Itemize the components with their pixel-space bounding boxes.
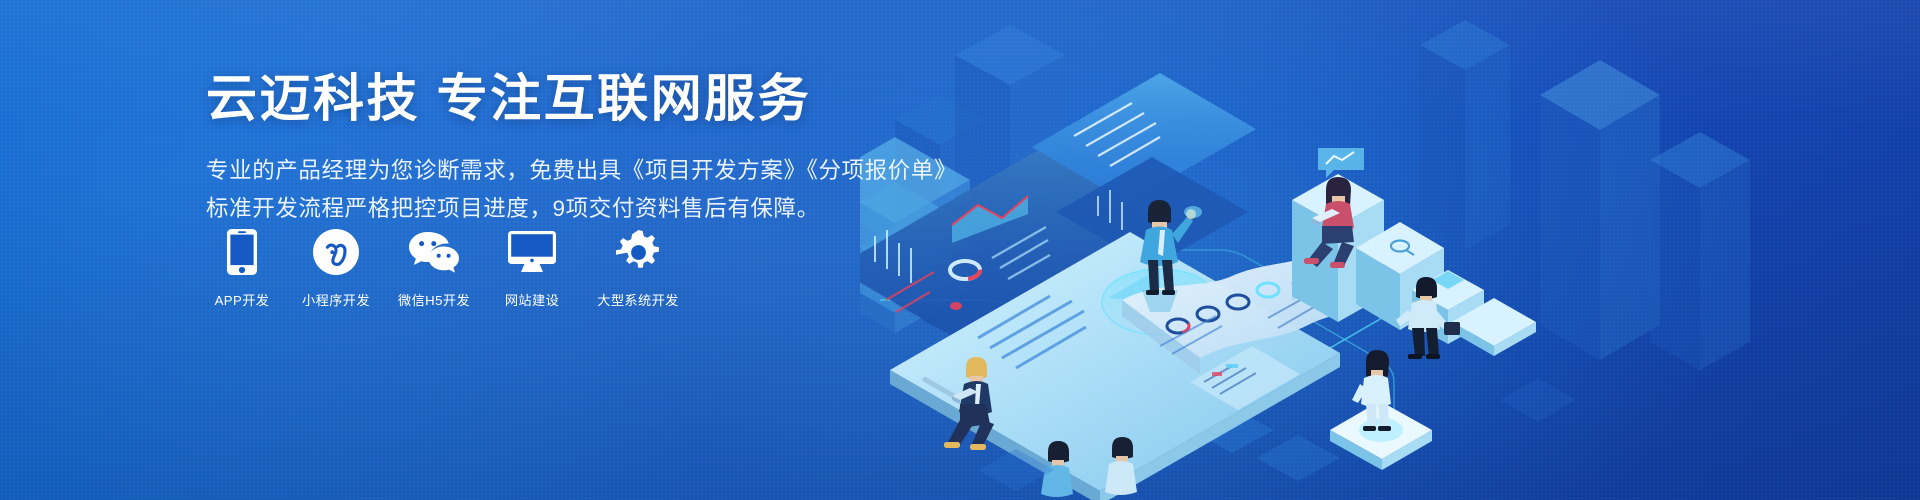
- monitor-icon: [508, 228, 556, 276]
- service-item-large-system[interactable]: 大型系统开发: [590, 228, 686, 309]
- promo-banner: 云迈科技 专注互联网服务 专业的产品经理为您诊断需求，免费出具《项目开发方案》《…: [0, 0, 1920, 500]
- service-item-wechat-h5[interactable]: 微信H5开发: [394, 228, 474, 309]
- gear-icon: [616, 228, 661, 276]
- service-list: APP开发 小程序开发: [206, 228, 686, 309]
- service-item-app[interactable]: APP开发: [206, 228, 278, 309]
- service-label: 网站建设: [505, 290, 559, 309]
- service-label: 微信H5开发: [398, 290, 470, 309]
- isometric-tech-illustration: [860, 0, 1920, 500]
- service-label: 小程序开发: [302, 290, 370, 309]
- banner-copy: 云迈科技 专注互联网服务 专业的产品经理为您诊断需求，免费出具《项目开发方案》《…: [206, 72, 926, 228]
- subtitle-line-1: 专业的产品经理为您诊断需求，免费出具《项目开发方案》《分项报价单》: [206, 158, 957, 183]
- banner-subtitle: 专业的产品经理为您诊断需求，免费出具《项目开发方案》《分项报价单》 标准开发流程…: [206, 152, 926, 228]
- page-title: 云迈科技 专注互联网服务: [206, 72, 926, 126]
- mobile-phone-icon: [227, 228, 257, 276]
- service-item-mini-program[interactable]: 小程序开发: [300, 228, 372, 309]
- service-label: 大型系统开发: [597, 290, 679, 309]
- service-item-website[interactable]: 网站建设: [496, 228, 568, 309]
- service-label: APP开发: [215, 290, 270, 309]
- wechat-icon: [408, 228, 460, 276]
- mini-program-icon: [313, 228, 359, 276]
- subtitle-line-2: 标准开发流程严格把控项目进度，9项交付资料售后有保障。: [206, 190, 926, 228]
